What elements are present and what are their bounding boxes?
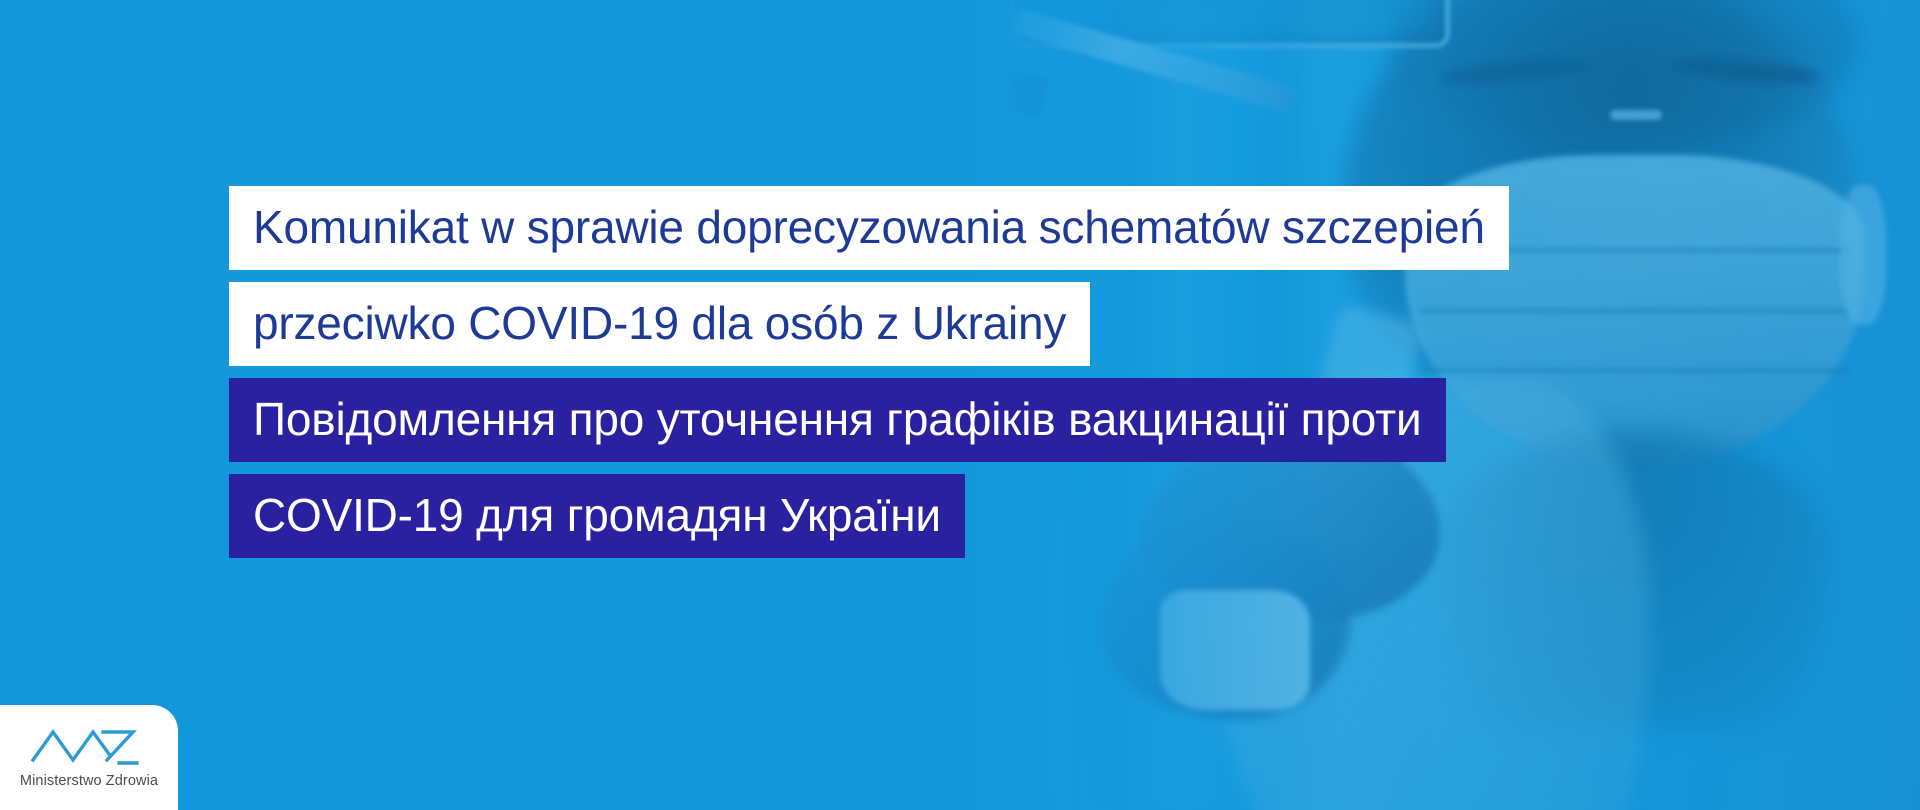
mz-zigzag-logo-icon [29, 724, 149, 768]
covid-vaccination-announcement-banner: Komunikat w sprawie doprecyzowania schem… [0, 0, 1920, 810]
headline-line-polish-1: Komunikat w sprawie doprecyzowania schem… [229, 186, 1509, 270]
headline-line-polish-2: przeciwko COVID-19 dla osób z Ukrainy [229, 282, 1090, 366]
photo-cotton-pad [1160, 590, 1310, 710]
headline-line-ukrainian-2: COVID-19 для громадян України [229, 474, 965, 558]
ministry-logo-badge: Ministerstwo Zdrowia [0, 705, 178, 810]
ministry-logo-caption: Ministerstwo Zdrowia [20, 773, 158, 789]
photo-eyeglasses-bridge [1610, 110, 1662, 120]
headline-stack: Komunikat w sprawie doprecyzowania schem… [229, 186, 1509, 558]
headline-line-ukrainian-1: Повідомлення про уточнення графіків вакц… [229, 378, 1446, 462]
photo-syringe-plunger [1005, 70, 1049, 118]
photo-mask-ear-strap [1840, 185, 1886, 325]
